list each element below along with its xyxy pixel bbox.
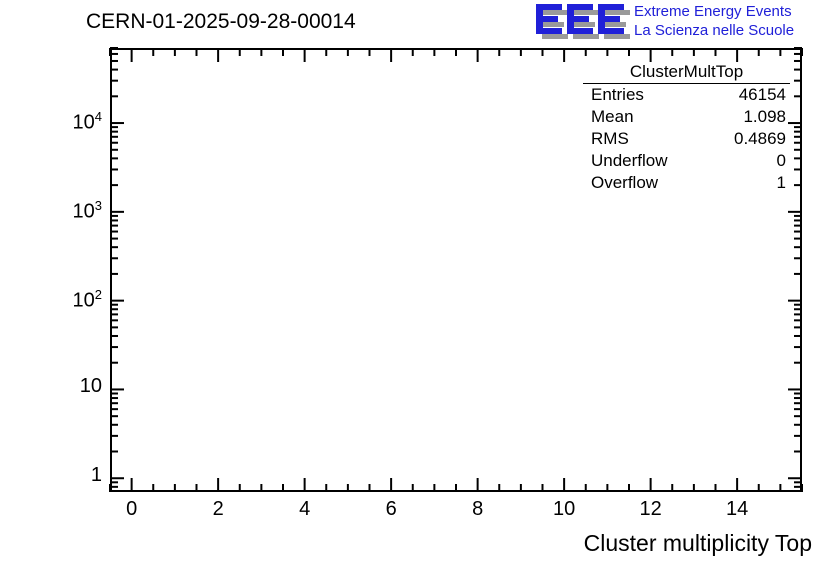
- x-tick-label: 8: [448, 498, 508, 521]
- stats-row: Underflow0: [583, 150, 790, 172]
- x-axis-title: Cluster multiplicity Top: [0, 530, 812, 557]
- stats-row-value: 1.098: [743, 107, 786, 127]
- x-tick-label: 12: [621, 498, 681, 521]
- stats-row-key: Overflow: [591, 173, 658, 193]
- stats-title: ClusterMultTop: [583, 62, 790, 84]
- stats-row: RMS0.4869: [583, 128, 790, 150]
- stats-row-value: 1: [777, 173, 786, 193]
- stats-row: Overflow1: [583, 172, 790, 194]
- stats-row: Entries46154: [583, 84, 790, 106]
- x-tick-label: 14: [707, 498, 767, 521]
- x-tick-label: 4: [275, 498, 335, 521]
- stats-row: Mean1.098: [583, 106, 790, 128]
- stats-row-value: 0.4869: [734, 129, 786, 149]
- stats-box: ClusterMultTop Entries46154Mean1.098RMS0…: [583, 62, 790, 194]
- stats-row-key: Underflow: [591, 151, 668, 171]
- x-tick-label: 6: [361, 498, 421, 521]
- stats-row-key: Entries: [591, 85, 644, 105]
- x-tick-label: 0: [102, 498, 162, 521]
- x-tick-label: 2: [188, 498, 248, 521]
- stats-row-key: Mean: [591, 107, 634, 127]
- stats-row-key: RMS: [591, 129, 629, 149]
- stats-rows: Entries46154Mean1.098RMS0.4869Underflow0…: [583, 84, 790, 194]
- x-tick-label: 10: [534, 498, 594, 521]
- stats-row-value: 0: [777, 151, 786, 171]
- stats-row-value: 46154: [739, 85, 786, 105]
- chart-canvas: CERN-01-2025-09-28-00014: [0, 0, 836, 572]
